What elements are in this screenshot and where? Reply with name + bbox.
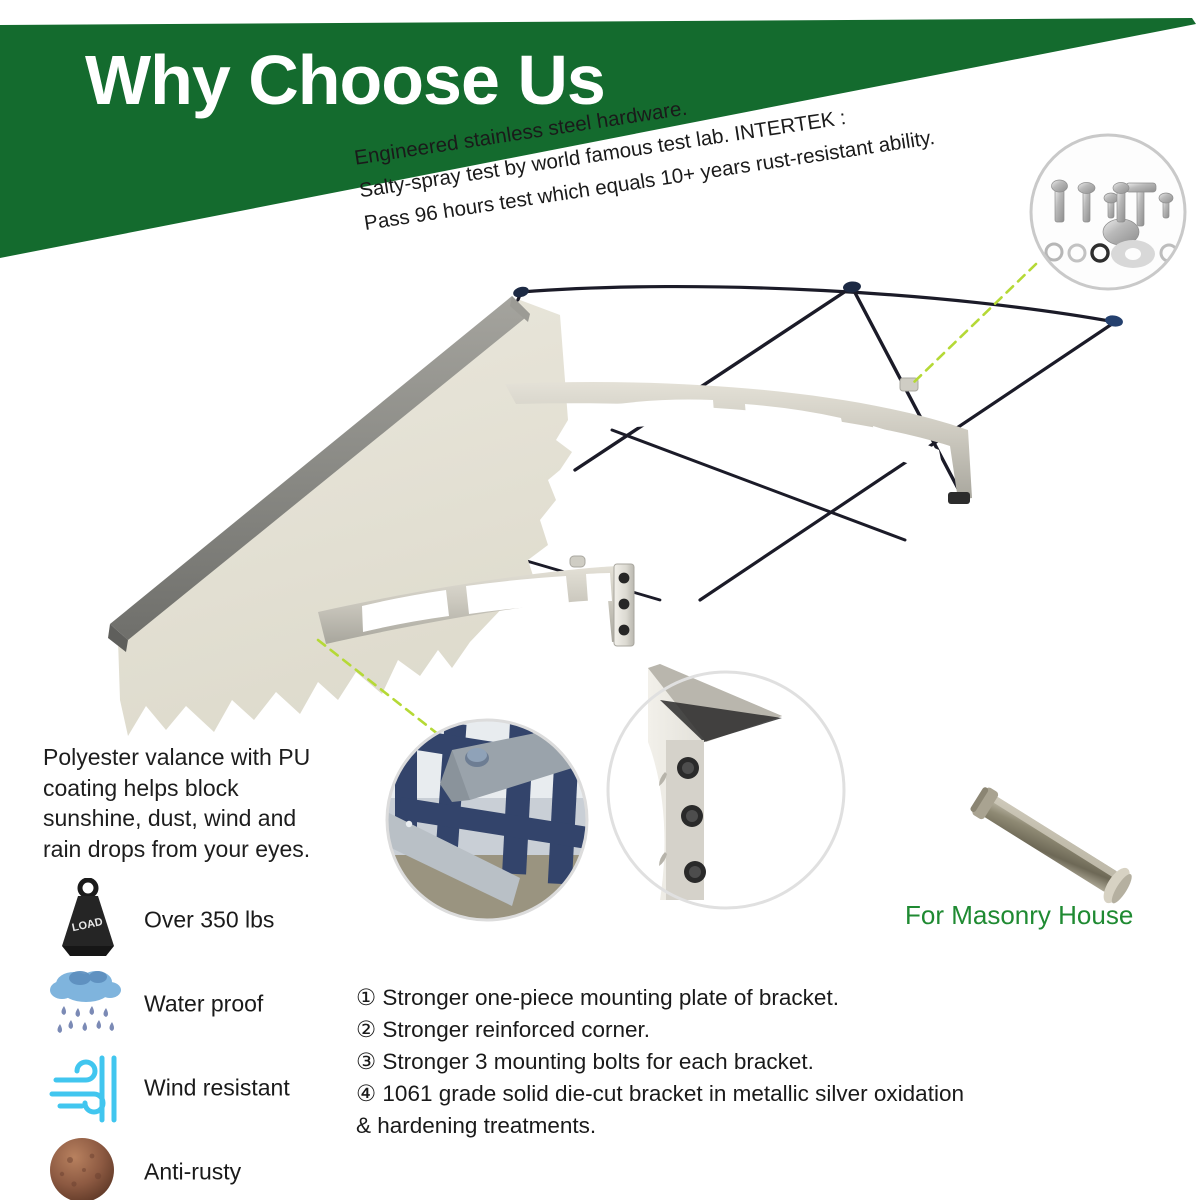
- leader-lines: [318, 264, 1036, 742]
- leader-line-railing: [318, 640, 448, 742]
- tension-cables: [418, 287, 1115, 600]
- leader-line-hardware: [912, 264, 1036, 384]
- anchor-bolt-photo: [966, 781, 1136, 908]
- valance-line-2: coating helps block: [43, 775, 239, 801]
- cable-end-caps: [512, 281, 1124, 328]
- wind-icon: [40, 1046, 132, 1130]
- valance-line-1: Polyester valance with PU: [43, 744, 310, 770]
- feature-list: LOAD Over 350 lbs: [40, 878, 340, 1200]
- benefit-item-2: ② Stronger reinforced corner.: [356, 1014, 976, 1046]
- awning-bracket-upper: [505, 378, 972, 504]
- feature-row-waterproof: Water proof: [40, 962, 340, 1046]
- feature-label-antirust: Anti-rusty: [144, 1159, 241, 1186]
- infographic-page: Why Choose Us Engineered stainless steel…: [0, 0, 1200, 1200]
- awning-canopy: [108, 296, 572, 736]
- feature-label-load: Over 350 lbs: [144, 907, 274, 934]
- numbered-benefits-list: ① Stronger one-piece mounting plate of b…: [356, 982, 976, 1142]
- valance-callout-text: Polyester valance with PU coating helps …: [43, 742, 353, 864]
- feature-label-wind: Wind resistant: [144, 1075, 290, 1102]
- benefit-item-4: ④ 1061 grade solid die-cut bracket in me…: [356, 1078, 976, 1142]
- load-weight-icon: LOAD: [40, 878, 132, 962]
- valance-line-3: sunshine, dust, wind and: [43, 805, 296, 831]
- valance-line-4: rain drops from your eyes.: [43, 836, 310, 862]
- feature-row-antirust: Anti-rusty: [40, 1130, 340, 1200]
- rust-sphere-icon: [40, 1130, 132, 1200]
- rain-cloud-icon: [40, 962, 132, 1046]
- feature-label-waterproof: Water proof: [144, 991, 263, 1018]
- bracket-plate-circle: [608, 664, 844, 908]
- benefit-item-3: ③ Stronger 3 mounting bolts for each bra…: [356, 1046, 976, 1078]
- benefit-item-1: ① Stronger one-piece mounting plate of b…: [356, 982, 976, 1014]
- railing-detail-circle: [387, 720, 598, 920]
- die-cut-bracket-plate: [648, 664, 782, 900]
- page-title: Why Choose Us: [85, 44, 605, 118]
- masonry-house-label: For Masonry House: [905, 900, 1133, 931]
- awning-bracket-lower: [318, 556, 634, 646]
- feature-row-wind: Wind resistant: [40, 1046, 340, 1130]
- feature-row-load: LOAD Over 350 lbs: [40, 878, 340, 962]
